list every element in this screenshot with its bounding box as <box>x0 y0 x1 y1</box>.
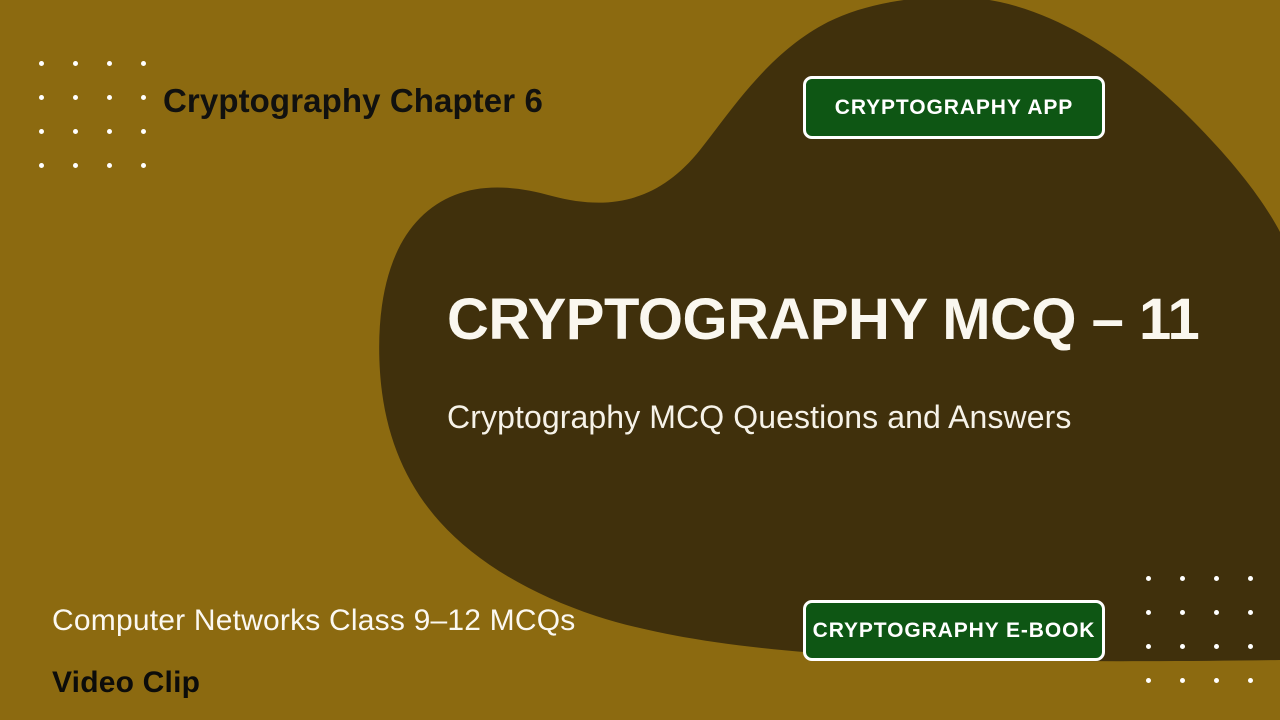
dot <box>1214 644 1219 649</box>
dot-grid-top-left <box>39 61 146 168</box>
dot-grid-bottom-right <box>1146 576 1253 683</box>
main-subheading: Cryptography MCQ Questions and Answers <box>447 395 1072 439</box>
cryptography-ebook-button[interactable]: CRYPTOGRAPHY E-BOOK <box>803 600 1105 661</box>
slide-canvas: Cryptography Chapter 6 CRYPTOGRAPHY APP … <box>0 0 1280 720</box>
page-title: Cryptography Chapter 6 <box>163 76 543 126</box>
dot <box>73 129 78 134</box>
dot <box>1146 576 1151 581</box>
dot <box>39 129 44 134</box>
main-heading: CRYPTOGRAPHY MCQ – 11 <box>447 283 1199 357</box>
dot <box>107 129 112 134</box>
dot <box>1214 678 1219 683</box>
dot <box>1146 644 1151 649</box>
dot <box>1146 678 1151 683</box>
cryptography-app-button[interactable]: CRYPTOGRAPHY APP <box>803 76 1105 139</box>
dot <box>141 61 146 66</box>
dot <box>107 163 112 168</box>
footer-secondary-text: Video Clip <box>52 662 200 704</box>
dot <box>1248 678 1253 683</box>
dot <box>107 61 112 66</box>
dot <box>1180 678 1185 683</box>
cryptography-app-button-label: CRYPTOGRAPHY APP <box>835 96 1073 120</box>
cryptography-ebook-button-label: CRYPTOGRAPHY E-BOOK <box>813 619 1096 643</box>
dot <box>107 95 112 100</box>
dot <box>1214 610 1219 615</box>
dot <box>141 95 146 100</box>
footer-primary-text: Computer Networks Class 9–12 MCQs <box>52 600 575 642</box>
dot <box>39 95 44 100</box>
dot <box>1146 610 1151 615</box>
dot <box>141 129 146 134</box>
dot <box>141 163 146 168</box>
dot <box>1180 644 1185 649</box>
dot <box>1180 576 1185 581</box>
dot <box>73 61 78 66</box>
dot <box>39 163 44 168</box>
dot <box>73 163 78 168</box>
dot <box>1248 610 1253 615</box>
dot <box>39 61 44 66</box>
dot <box>1180 610 1185 615</box>
dot <box>1248 576 1253 581</box>
dot <box>1214 576 1219 581</box>
dot <box>1248 644 1253 649</box>
dot <box>73 95 78 100</box>
